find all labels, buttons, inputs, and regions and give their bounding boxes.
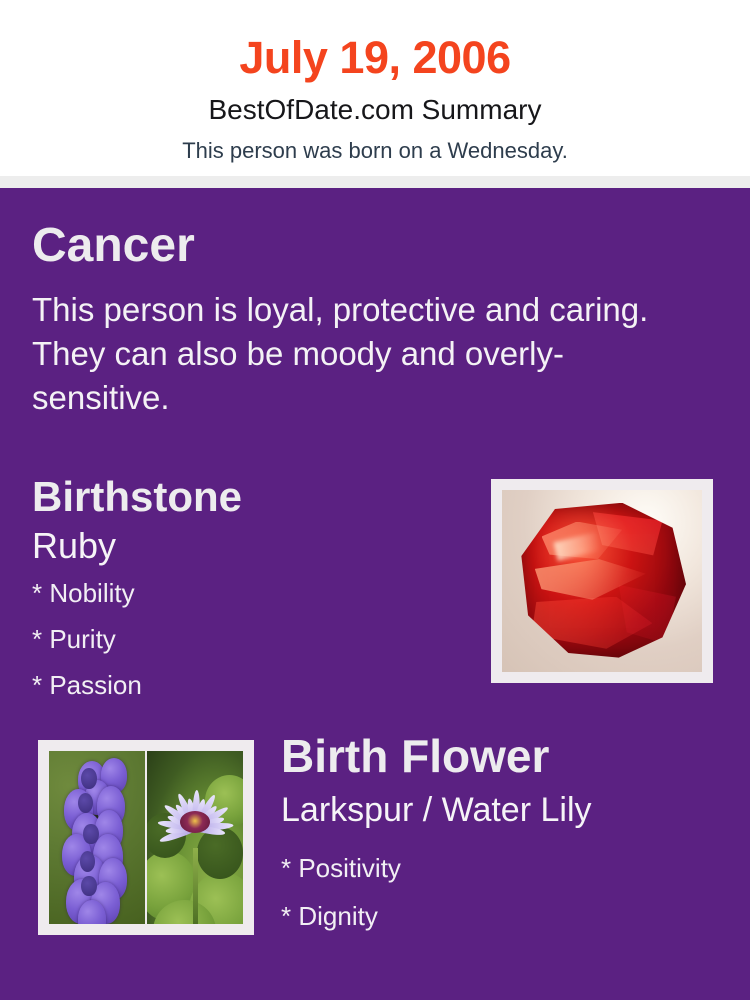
birth-flower-heading: Birth Flower xyxy=(281,733,549,779)
page-title-date: July 19, 2006 xyxy=(0,0,750,80)
birth-flower-image xyxy=(49,751,243,924)
flower-split-photo xyxy=(49,751,243,924)
zodiac-sign-title: Cancer xyxy=(32,222,195,270)
stem-icon xyxy=(193,848,198,924)
header: July 19, 2006 BestOfDate.com Summary Thi… xyxy=(0,0,750,176)
details-panel: Cancer This person is loyal, protective … xyxy=(0,188,750,1000)
list-item: * Nobility xyxy=(32,580,142,606)
summary-card: July 19, 2006 BestOfDate.com Summary Thi… xyxy=(0,0,750,1000)
list-item: * Positivity xyxy=(281,855,401,881)
zodiac-description: This person is loyal, protective and car… xyxy=(32,288,652,421)
birth-flower-image-frame xyxy=(38,740,254,935)
birthstone-image-frame xyxy=(491,479,713,683)
list-item: * Passion xyxy=(32,672,142,698)
larkspur-center-icon xyxy=(78,793,93,814)
larkspur-photo xyxy=(49,751,145,924)
larkspur-center-icon xyxy=(83,824,98,845)
birthstone-heading: Birthstone xyxy=(32,476,242,518)
birthstone-image xyxy=(502,490,702,672)
birth-flower-trait-list: * Positivity * Dignity xyxy=(281,855,401,951)
water-lily-photo xyxy=(147,751,243,924)
larkspur-center-icon xyxy=(80,851,95,872)
larkspur-center-icon xyxy=(81,876,96,897)
birthstone-name: Ruby xyxy=(32,528,116,564)
lily-center-icon xyxy=(180,811,210,833)
list-item: * Dignity xyxy=(281,903,401,929)
larkspur-center-icon xyxy=(81,768,96,789)
birthstone-trait-list: * Nobility * Purity * Passion xyxy=(32,580,142,718)
site-name: BestOfDate.com Summary xyxy=(0,80,750,124)
birth-flower-name: Larkspur / Water Lily xyxy=(281,793,592,827)
list-item: * Purity xyxy=(32,626,142,652)
header-divider xyxy=(0,176,750,188)
born-weekday-line: This person was born on a Wednesday. xyxy=(0,124,750,162)
